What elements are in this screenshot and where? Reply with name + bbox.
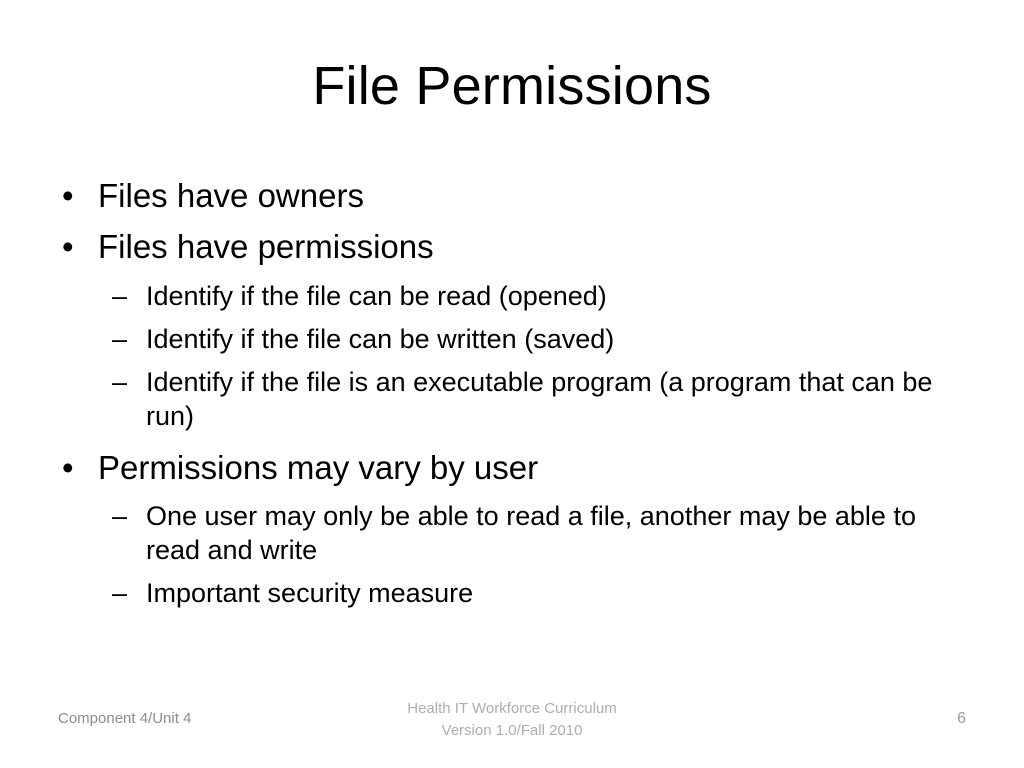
footer-curriculum-line1: Health IT Workforce Curriculum <box>302 698 722 720</box>
bullet-text: Identify if the file is an executable pr… <box>146 365 946 433</box>
bullet-text: Files have permissions <box>98 228 434 265</box>
dash-marker-icon: – <box>112 499 127 533</box>
bullet-item-level2: – Identify if the file can be written (s… <box>56 322 976 356</box>
dash-marker-icon: – <box>112 576 127 610</box>
bullet-item-level1: • Files have permissions <box>56 227 976 267</box>
bullet-item-level1: • Permissions may vary by user <box>56 448 976 488</box>
bullet-item-level2: – One user may only be able to read a fi… <box>56 499 976 567</box>
footer-curriculum-line2: Version 1.0/Fall 2010 <box>302 720 722 742</box>
slide-footer: Component 4/Unit 4 Health IT Workforce C… <box>0 690 1024 768</box>
slide: File Permissions • Files have owners • F… <box>0 0 1024 768</box>
bullet-text: One user may only be able to read a file… <box>146 499 946 567</box>
dash-marker-icon: – <box>112 365 127 399</box>
bullet-item-level1: • Files have owners <box>56 176 976 216</box>
bullet-marker-icon: • <box>62 227 74 267</box>
bullet-item-level2: – Important security measure <box>56 576 976 610</box>
bullet-marker-icon: • <box>62 448 74 488</box>
slide-title: File Permissions <box>0 56 1024 116</box>
bullet-marker-icon: • <box>62 176 74 216</box>
footer-component-label: Component 4/Unit 4 <box>58 710 191 727</box>
slide-body: • Files have owners • Files have permiss… <box>56 176 976 619</box>
footer-curriculum-label: Health IT Workforce Curriculum Version 1… <box>302 698 722 742</box>
bullet-text: Identify if the file can be read (opened… <box>146 279 946 313</box>
bullet-item-level2: – Identify if the file is an executable … <box>56 365 976 433</box>
bullet-text: Identify if the file can be written (sav… <box>146 322 946 356</box>
bullet-text: Permissions may vary by user <box>98 449 538 486</box>
bullet-text: Important security measure <box>146 576 946 610</box>
dash-marker-icon: – <box>112 279 127 313</box>
bullet-item-level2: – Identify if the file can be read (open… <box>56 279 976 313</box>
page-number: 6 <box>957 710 966 728</box>
bullet-text: Files have owners <box>98 177 364 214</box>
dash-marker-icon: – <box>112 322 127 356</box>
